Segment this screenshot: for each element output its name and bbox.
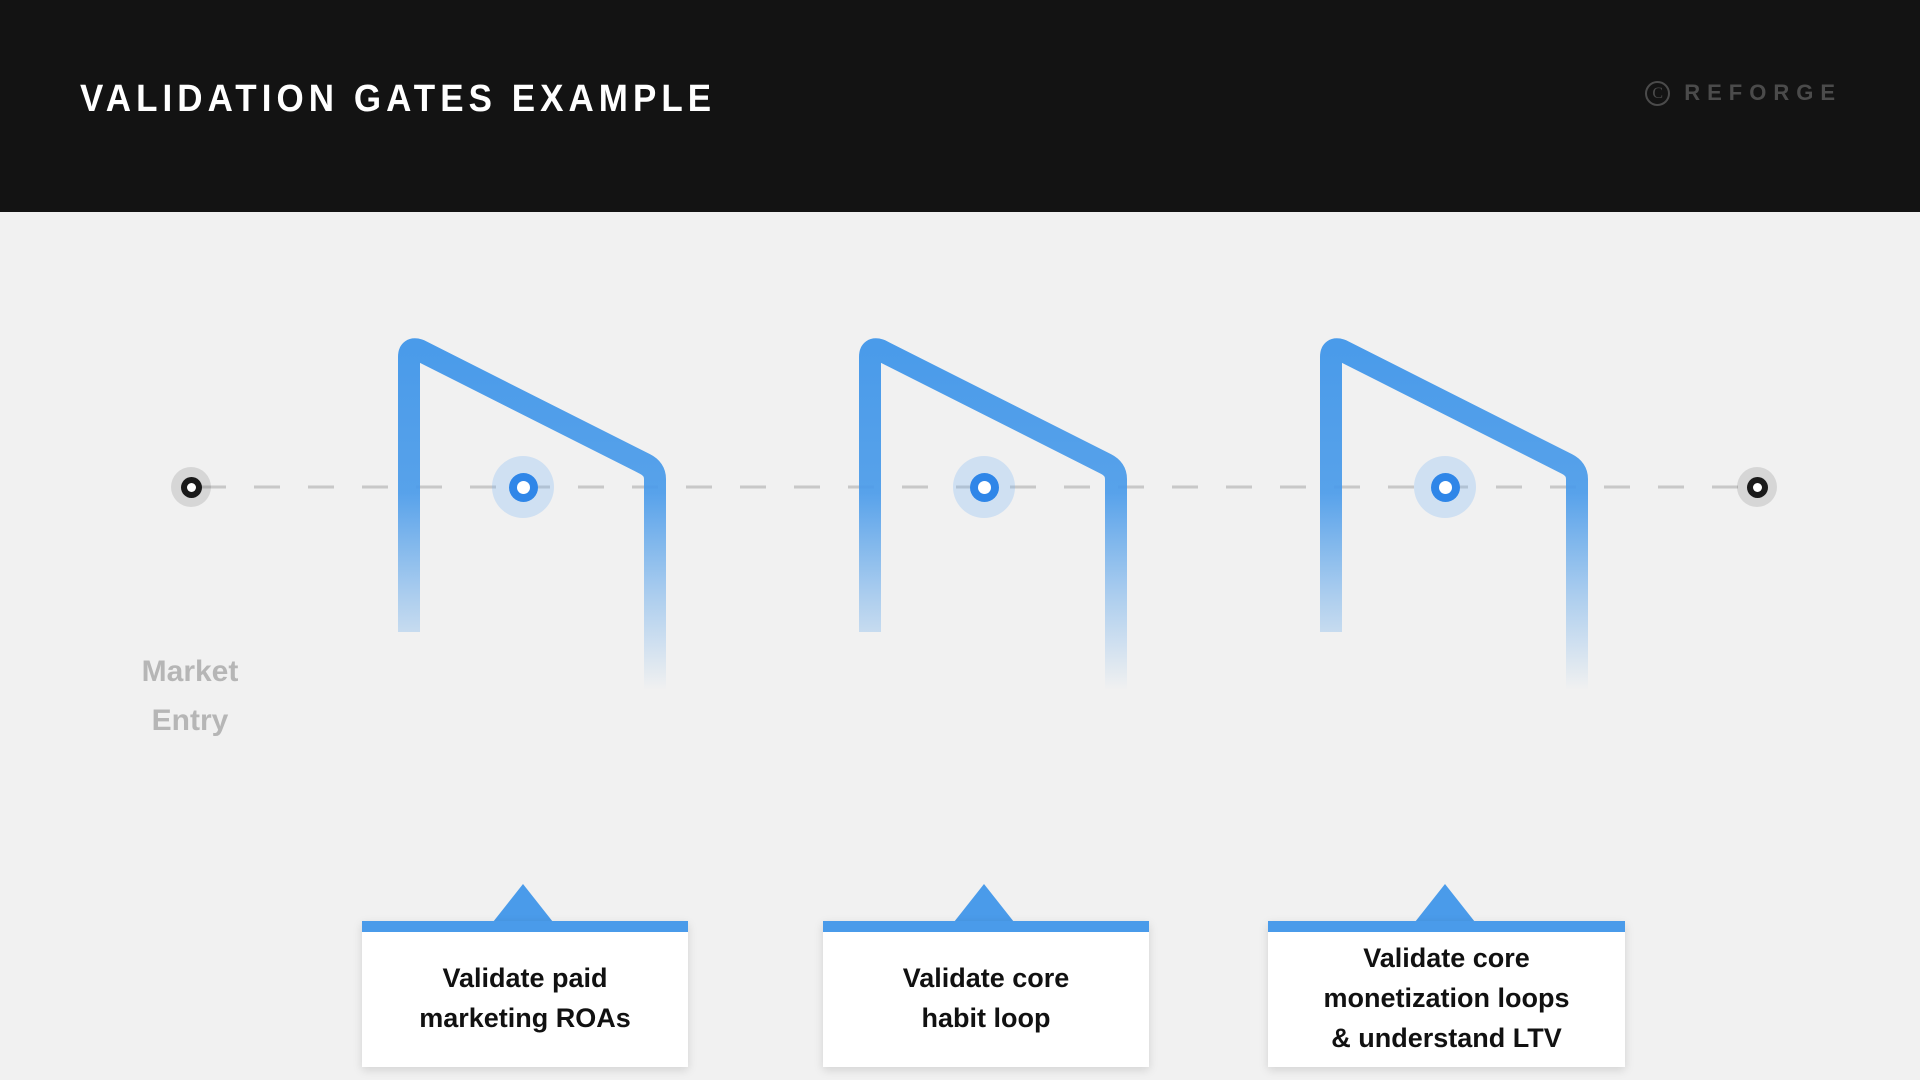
gate-card-2-topbar bbox=[823, 921, 1149, 932]
timeline-end-core bbox=[1753, 483, 1762, 492]
gate-card-3-topbar bbox=[1268, 921, 1625, 932]
gate-card-1-topbar bbox=[362, 921, 688, 932]
gate-arch-2 bbox=[870, 349, 1116, 690]
card-pointer-2 bbox=[954, 884, 1014, 922]
gate-dot-3-core bbox=[1439, 481, 1452, 494]
validation-gates-diagram: Market Entry Validate paid marketing ROA bbox=[0, 212, 1920, 1080]
gate-dot-1-core bbox=[517, 481, 530, 494]
market-entry-label-line-1: Market bbox=[90, 647, 290, 696]
brand-logo: C REFORGE bbox=[1645, 80, 1842, 106]
market-entry-label: Market Entry bbox=[90, 647, 290, 745]
timeline-start-point[interactable] bbox=[171, 467, 211, 507]
gate-dot-3-ring bbox=[1431, 473, 1460, 502]
gate-dot-2[interactable] bbox=[953, 456, 1015, 518]
timeline-start-core bbox=[187, 483, 196, 492]
gate-arch-3 bbox=[1331, 349, 1577, 690]
brand-name: REFORGE bbox=[1684, 80, 1842, 106]
card-pointer-1 bbox=[493, 884, 553, 922]
gate-card-2-text: Validate core habit loop bbox=[885, 944, 1088, 1044]
gate-card-1[interactable]: Validate paid marketing ROAs bbox=[362, 921, 688, 1067]
gate-dot-1[interactable] bbox=[492, 456, 554, 518]
page-title: VALIDATION GATES EXAMPLE bbox=[80, 78, 716, 121]
gate-arch-1 bbox=[409, 349, 655, 690]
gate-card-1-text: Validate paid marketing ROAs bbox=[401, 944, 649, 1044]
timeline-end-point[interactable] bbox=[1737, 467, 1777, 507]
timeline-end-ring bbox=[1747, 477, 1768, 498]
gate-card-2[interactable]: Validate core habit loop bbox=[823, 921, 1149, 1067]
gate-card-3[interactable]: Validate core monetization loops & under… bbox=[1268, 921, 1625, 1067]
gate-dot-2-core bbox=[978, 481, 991, 494]
card-pointer-3 bbox=[1415, 884, 1475, 922]
header-bar: VALIDATION GATES EXAMPLE C REFORGE bbox=[0, 0, 1920, 212]
timeline-start-ring bbox=[181, 477, 202, 498]
gate-dot-1-ring bbox=[509, 473, 538, 502]
gate-card-3-text: Validate core monetization loops & under… bbox=[1306, 924, 1588, 1064]
copyright-circle-icon: C bbox=[1645, 81, 1670, 106]
gate-dot-2-ring bbox=[970, 473, 999, 502]
gate-dot-3[interactable] bbox=[1414, 456, 1476, 518]
market-entry-label-line-2: Entry bbox=[90, 696, 290, 745]
